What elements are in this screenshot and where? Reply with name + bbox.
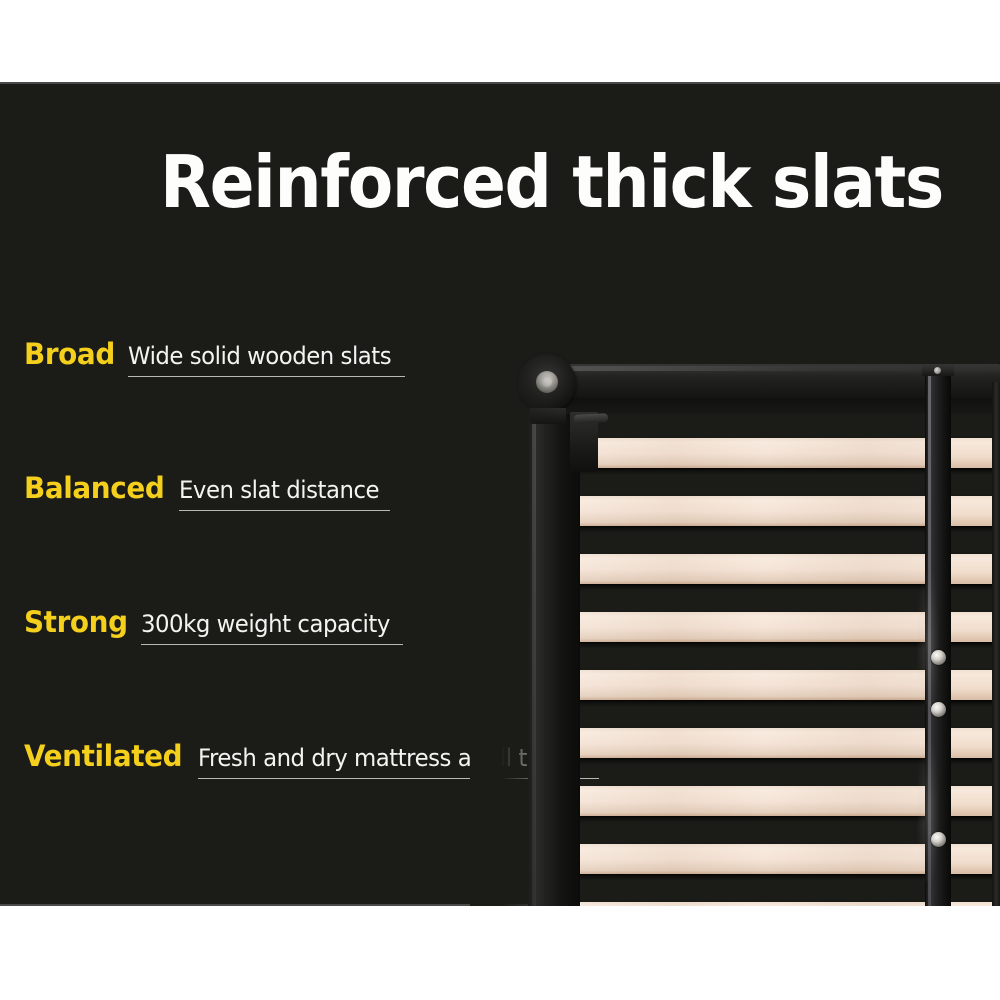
- bed-frame-left-post-highlight: [532, 392, 536, 906]
- feature-label-broad: Broad: [24, 337, 115, 371]
- page-title: Reinforced thick slats: [160, 143, 859, 221]
- feature-item-strong: Strong300kg weight capacity: [24, 605, 544, 739]
- feature-description-strong: 300kg weight capacity: [141, 611, 390, 638]
- product-photo-bed-slats: [470, 272, 1000, 906]
- feature-description-underline-strong: 300kg weight capacity: [141, 611, 403, 645]
- center-rail-reflection: [917, 742, 939, 882]
- center-rail-reflection: [917, 572, 939, 712]
- feature-item-balanced: BalancedEven slat distance: [24, 471, 544, 605]
- screw-head-icon: [931, 702, 946, 717]
- corner-bracket-tab: [530, 408, 566, 424]
- product-feature-image: Reinforced thick slats BroadWide solid w…: [0, 0, 1000, 1000]
- feature-description-underline-broad: Wide solid wooden slats: [128, 343, 405, 377]
- feature-description-balanced: Even slat distance: [179, 477, 379, 504]
- bed-frame-right-post: [992, 382, 1000, 906]
- screw-head-icon: [931, 832, 946, 847]
- panel-top-hairline: [0, 82, 1000, 84]
- screw-head-icon: [931, 650, 946, 665]
- dark-content-panel: Reinforced thick slats BroadWide solid w…: [0, 82, 1000, 906]
- center-rail-cap-bolt-icon: [934, 367, 941, 374]
- slat-holder-pin: [574, 413, 608, 424]
- feature-label-strong: Strong: [24, 605, 128, 639]
- feature-item-ventilated: VentilatedFresh and dry mattress at all …: [24, 739, 544, 873]
- corner-bolt-core-icon: [542, 377, 552, 387]
- feature-list: BroadWide solid wooden slats BalancedEve…: [24, 337, 544, 873]
- feature-description-broad: Wide solid wooden slats: [128, 343, 391, 370]
- feature-item-broad: BroadWide solid wooden slats: [24, 337, 544, 471]
- feature-description-underline-balanced: Even slat distance: [179, 477, 390, 511]
- feature-label-balanced: Balanced: [24, 471, 164, 505]
- feature-label-ventilated: Ventilated: [24, 739, 182, 773]
